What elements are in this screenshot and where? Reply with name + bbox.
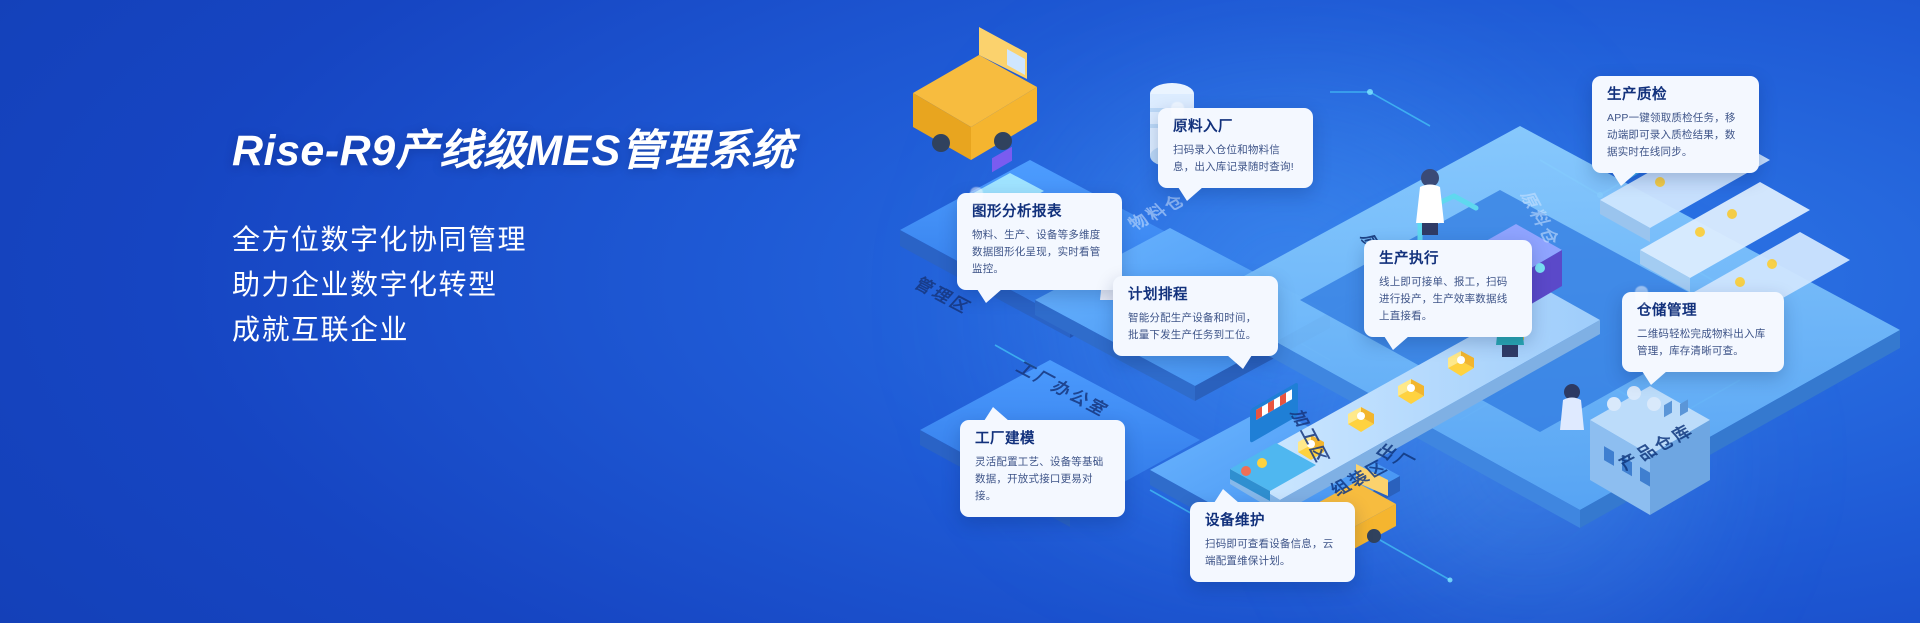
hero-copy: Rise-R9产线级MES管理系统 全方位数字化协同管理 助力企业数字化转型 成… [232, 126, 852, 353]
callout-quality-inspection[interactable]: 生产质检 APP一键领取质检任务，移动端即可录入质检结果，数据实时在线同步。 [1592, 76, 1759, 173]
callout-description: APP一键领取质检任务，移动端即可录入质检结果，数据实时在线同步。 [1607, 110, 1745, 161]
callout-sheen-icon [1635, 286, 1648, 306]
callout-description: 物料、生产、设备等多维度数据图形化呈现，实时看管监控。 [972, 227, 1108, 278]
callout-title: 原料入厂 [1173, 119, 1299, 136]
callout-sheen-icon [1171, 102, 1184, 122]
hero-subtitle-3: 成就互联企业 [232, 307, 852, 352]
hero-subtitle-1: 全方位数字化协同管理 [232, 217, 852, 262]
callout-chart-analysis[interactable]: 图形分析报表 物料、生产、设备等多维度数据图形化呈现，实时看管监控。 [957, 193, 1122, 290]
callout-planning-scheduling[interactable]: 计划排程 智能分配生产设备和时间，批量下发生产任务到工位。 [1113, 276, 1278, 356]
callout-description: 二维码轻松完成物料出入库管理，库存清晰可查。 [1637, 326, 1770, 360]
callout-description: 智能分配生产设备和时间，批量下发生产任务到工位。 [1128, 310, 1264, 344]
callout-description: 线上即可接单、报工，扫码进行投产，生产效率数据线上直接看。 [1379, 274, 1518, 325]
callout-sheen-icon [970, 187, 983, 207]
callout-title: 工厂建模 [975, 431, 1111, 448]
page-title: Rise-R9产线级MES管理系统 [232, 126, 852, 177]
callout-pointer-icon [1214, 489, 1239, 503]
callout-pointer-icon [1178, 187, 1203, 201]
callout-title: 计划排程 [1128, 287, 1264, 304]
hero-banner: Rise-R9产线级MES管理系统 全方位数字化协同管理 助力企业数字化转型 成… [0, 0, 1920, 623]
callout-pointer-icon [1612, 172, 1637, 186]
callout-pointer-icon [1384, 336, 1409, 350]
hero-subtitle-list: 全方位数字化协同管理 助力企业数字化转型 成就互联企业 [232, 217, 852, 353]
hero-subtitle-2: 助力企业数字化转型 [232, 262, 852, 307]
callout-title: 生产质检 [1607, 87, 1745, 104]
callout-title: 生产执行 [1379, 251, 1518, 268]
callout-title: 设备维护 [1205, 513, 1341, 530]
callout-equipment-maintenance[interactable]: 设备维护 扫码即可查看设备信息，云端配置维保计划。 [1190, 502, 1355, 582]
callout-pointer-icon [1227, 355, 1252, 369]
callout-description: 灵活配置工艺、设备等基础数据，开放式接口更易对接。 [975, 454, 1111, 505]
callout-description: 扫码即可查看设备信息，云端配置维保计划。 [1205, 536, 1341, 570]
callout-factory-modeling[interactable]: 工厂建模 灵活配置工艺、设备等基础数据，开放式接口更易对接。 [960, 420, 1125, 517]
callout-description: 扫码录入仓位和物料信息，出入库记录随时查询! [1173, 142, 1299, 176]
callout-warehouse-management[interactable]: 仓储管理 二维码轻松完成物料出入库管理，库存清晰可查。 [1622, 292, 1784, 372]
callout-title: 图形分析报表 [972, 204, 1108, 221]
callout-production-execution[interactable]: 生产执行 线上即可接单、报工，扫码进行投产，生产效率数据线上直接看。 [1364, 240, 1532, 337]
callout-title: 仓储管理 [1637, 303, 1770, 320]
callout-material-inbound[interactable]: 原料入厂 扫码录入仓位和物料信息，出入库记录随时查询! [1158, 108, 1313, 188]
callout-pointer-icon [1642, 371, 1667, 385]
callout-pointer-icon [984, 407, 1009, 421]
callout-pointer-icon [977, 289, 1002, 303]
